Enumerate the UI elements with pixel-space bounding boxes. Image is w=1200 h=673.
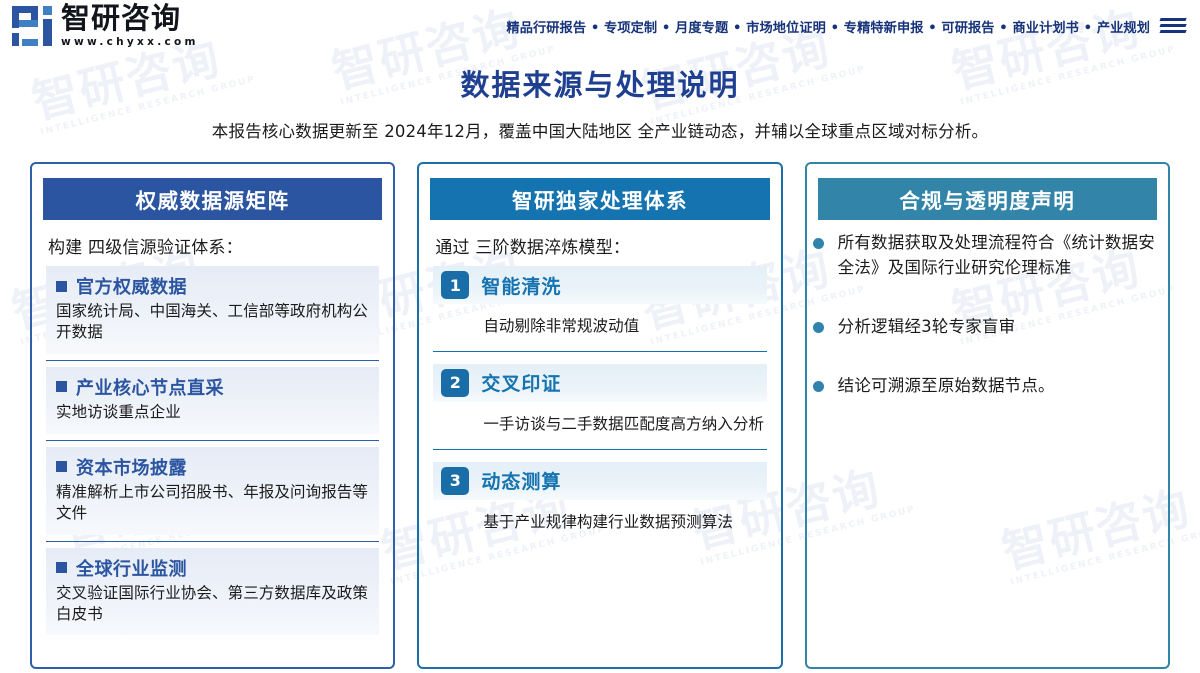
list-item[interactable]: 3 动态测算 基于产业规律构建行业数据预测算法 <box>433 449 766 537</box>
header-tagline: 精品行研报告 • 专项定制 • 月度专题 • 市场地位证明 • 专精特新申报 •… <box>506 17 1150 36</box>
step-desc: 基于产业规律构建行业数据预测算法 <box>433 500 766 533</box>
bullet-text: 结论可溯源至原始数据节点。 <box>838 373 1055 398</box>
bullet-text: 分析逻辑经3轮专家盲审 <box>838 314 1016 339</box>
step-title: 动态测算 <box>481 467 561 494</box>
step-header: 2 交叉印证 <box>433 364 766 402</box>
page-title: 数据来源与处理说明 <box>0 62 1200 104</box>
step-desc: 一手访谈与二手数据匹配度高方纳入分析 <box>433 402 766 435</box>
top-bar: 智研咨询 www.chyxx.com 精品行研报告 • 专项定制 • 月度专题 … <box>0 0 1200 52</box>
item-title: 全球行业监测 <box>76 555 187 581</box>
step-number-badge: 3 <box>441 467 469 495</box>
item-desc: 国家统计局、中国海关、工信部等政府机构公开数据 <box>56 301 369 343</box>
step-number-badge: 1 <box>441 271 469 299</box>
dot-bullet-icon <box>813 381 824 392</box>
dot-bullet-icon <box>813 322 824 333</box>
card-lead: 通过 三阶数据淬炼模型： <box>419 220 780 266</box>
card-title: 权威数据源矩阵 <box>43 178 382 220</box>
card-exclusive-processing: 智研独家处理体系 通过 三阶数据淬炼模型： 1 智能清洗 自动剔除非常规波动值 … <box>417 162 782 669</box>
list-item[interactable]: 资本市场披露 精准解析上市公司招股书、年报及问询报告等文件 <box>46 440 379 537</box>
item-title-row: 全球行业监测 <box>56 555 369 581</box>
cards-row: 权威数据源矩阵 构建 四级信源验证体系： 官方权威数据 国家统计局、中国海关、工… <box>0 142 1200 662</box>
item-title-row: 资本市场披露 <box>56 454 369 480</box>
step-header: 3 动态测算 <box>433 462 766 500</box>
list-item[interactable]: 结论可溯源至原始数据节点。 <box>813 373 1158 398</box>
item-title: 官方权威数据 <box>76 273 187 299</box>
item-title: 产业核心节点直采 <box>76 374 224 400</box>
brand-url: www.chyxx.com <box>61 36 199 48</box>
chyxx-logo-icon <box>12 6 52 46</box>
step-number-badge: 2 <box>441 369 469 397</box>
card-lead: 构建 四级信源验证体系： <box>32 220 393 266</box>
bullet-text: 所有数据获取及处理流程符合《统计数据安全法》及国际行业研究伦理标准 <box>838 230 1158 280</box>
step-header: 1 智能清洗 <box>433 266 766 304</box>
list-item[interactable]: 产业核心节点直采 实地访谈重点企业 <box>46 360 379 436</box>
list-item[interactable]: 全球行业监测 交叉验证国际行业协会、第三方数据库及政策白皮书 <box>46 541 379 638</box>
item-title-row: 官方权威数据 <box>56 273 369 299</box>
brand-logo[interactable]: 智研咨询 www.chyxx.com <box>12 4 199 48</box>
page-subtitle: 本报告核心数据更新至 2024年12月，覆盖中国大陆地区 全产业链动态，并辅以全… <box>0 118 1200 142</box>
stacked-layers-icon[interactable] <box>1160 17 1186 36</box>
square-bullet-icon <box>56 381 67 392</box>
top-right-group: 精品行研报告 • 专项定制 • 月度专题 • 市场地位证明 • 专精特新申报 •… <box>506 17 1186 36</box>
card-body: 官方权威数据 国家统计局、中国海关、工信部等政府机构公开数据 产业核心节点直采 … <box>32 266 393 657</box>
square-bullet-icon <box>56 562 67 573</box>
card-title: 智研独家处理体系 <box>430 178 769 220</box>
card-title: 合规与透明度声明 <box>818 178 1157 220</box>
page-root: 智研咨询 INTELLIGENCE RESEARCH GROUP 智研咨询 IN… <box>0 0 1200 673</box>
card-body: 1 智能清洗 自动剔除非常规波动值 2 交叉印证 一手访谈与二手数据匹配度高方纳… <box>419 266 780 657</box>
step-title: 智能清洗 <box>481 272 561 299</box>
dot-bullet-icon <box>813 238 824 249</box>
card-body: 所有数据获取及处理流程符合《统计数据安全法》及国际行业研究伦理标准 分析逻辑经3… <box>807 220 1168 657</box>
item-desc: 交叉验证国际行业协会、第三方数据库及政策白皮书 <box>56 583 369 625</box>
step-desc: 自动剔除非常规波动值 <box>433 304 766 337</box>
brand-name: 智研咨询 <box>61 4 199 33</box>
item-desc: 精准解析上市公司招股书、年报及问询报告等文件 <box>56 482 369 524</box>
list-item[interactable]: 1 智能清洗 自动剔除非常规波动值 <box>433 266 766 341</box>
item-desc: 实地访谈重点企业 <box>56 402 369 423</box>
card-compliance-transparency: 合规与透明度声明 所有数据获取及处理流程符合《统计数据安全法》及国际行业研究伦理… <box>805 162 1170 669</box>
list-item[interactable]: 所有数据获取及处理流程符合《统计数据安全法》及国际行业研究伦理标准 <box>813 230 1158 280</box>
card-authoritative-sources: 权威数据源矩阵 构建 四级信源验证体系： 官方权威数据 国家统计局、中国海关、工… <box>30 162 395 669</box>
list-item[interactable]: 官方权威数据 国家统计局、中国海关、工信部等政府机构公开数据 <box>46 266 379 356</box>
list-item[interactable]: 分析逻辑经3轮专家盲审 <box>813 314 1158 339</box>
item-title-row: 产业核心节点直采 <box>56 374 369 400</box>
square-bullet-icon <box>56 461 67 472</box>
item-title: 资本市场披露 <box>76 454 187 480</box>
list-item[interactable]: 2 交叉印证 一手访谈与二手数据匹配度高方纳入分析 <box>433 351 766 439</box>
square-bullet-icon <box>56 281 67 292</box>
step-title: 交叉印证 <box>481 369 561 396</box>
